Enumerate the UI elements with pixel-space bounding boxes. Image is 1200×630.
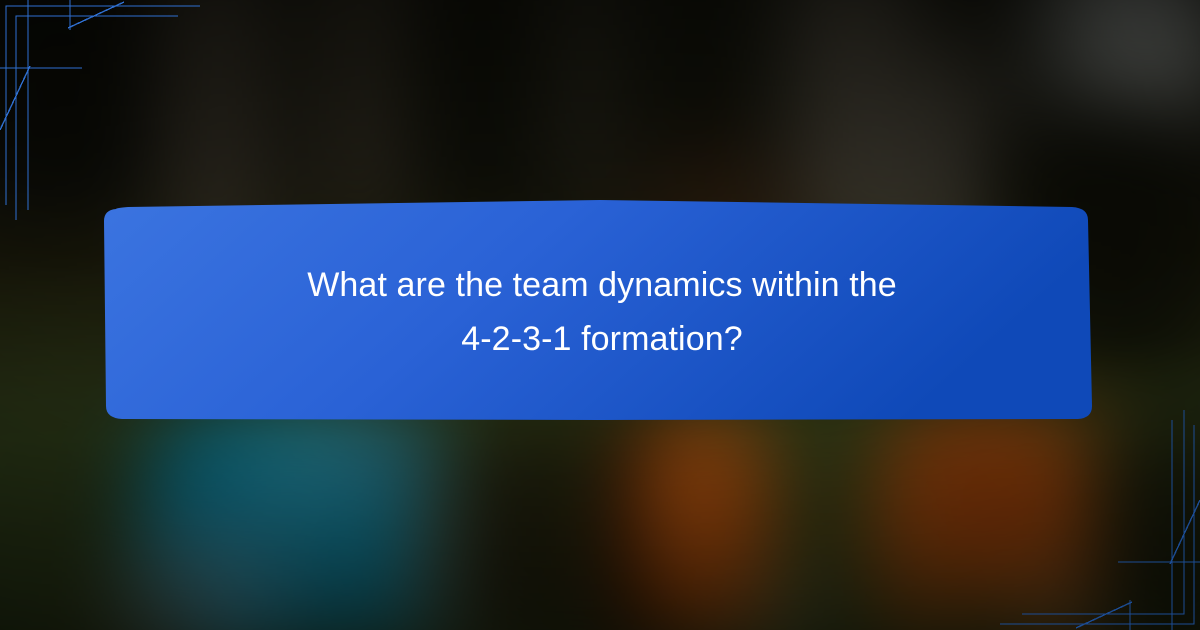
question-line-1: What are the team dynamics within the — [307, 265, 897, 305]
question-line-2: 4-2-3-1 formation? — [461, 319, 743, 359]
question-card: What are the team dynamics within the 4-… — [0, 0, 1200, 630]
question-text-block: What are the team dynamics within the 4-… — [104, 200, 1100, 424]
share-card-canvas: What are the team dynamics within the 4-… — [0, 0, 1200, 630]
